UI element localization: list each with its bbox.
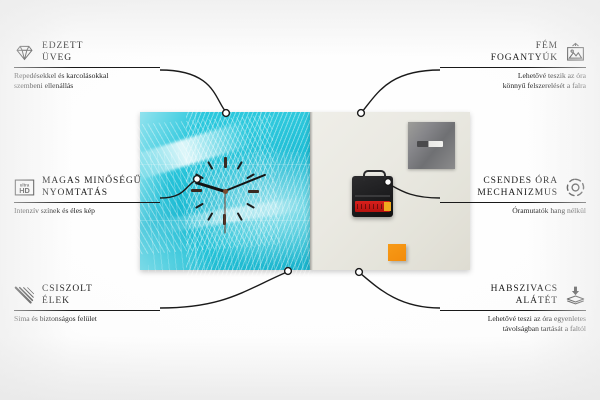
connector-hanger <box>362 70 440 112</box>
feature-title: CSISZOLT ÉLEK <box>42 284 93 307</box>
feature-header: CSENDES ÓRA MECHANIZMUS <box>440 176 586 199</box>
ultra-hd-icon: ultra HD <box>14 177 35 198</box>
bevelled-edges-icon <box>14 285 35 306</box>
feature-high-quality-print: ultra HD MAGAS MINŐSÉGŰ NYOMTATÁS Intenz… <box>14 176 160 216</box>
feature-rule <box>14 202 160 203</box>
hanger-plate <box>408 122 455 169</box>
feature-silent-mechanism: CSENDES ÓRA MECHANIZMUS Óramutatók hang … <box>440 176 586 216</box>
feature-rule <box>440 67 586 68</box>
feature-tempered-glass: EDZETT ÜVEG Repedésekkel és karcolásokka… <box>14 41 160 90</box>
feature-header: FÉM FOGANTYÚK <box>440 41 586 64</box>
battery-terminal <box>384 202 391 211</box>
feature-description: Lehetővé teszik az óra könnyű felszerelé… <box>440 71 586 90</box>
feature-title: MAGAS MINŐSÉGŰ NYOMTATÁS <box>42 176 141 199</box>
feature-rule <box>14 310 160 311</box>
hanger-slot <box>417 141 443 147</box>
diamond-icon <box>14 42 35 63</box>
feature-rule <box>440 202 586 203</box>
feature-description: Repedésekkel és karcolásokkal szembeni e… <box>14 71 160 90</box>
battery-label <box>357 204 383 209</box>
feature-header: EDZETT ÜVEG <box>14 41 160 64</box>
feature-header: HABSZIVACS ALÁTÉT <box>440 284 586 307</box>
second-hand <box>225 191 226 233</box>
feature-description: Intenzív színek és éles kép <box>14 206 160 216</box>
gear-icon <box>565 177 586 198</box>
connector-tempered-glass <box>160 70 226 112</box>
foam-pad <box>388 244 406 261</box>
picture-frame-icon <box>565 42 586 63</box>
feature-polished-edges: CSISZOLT ÉLEK Sima és biztonságos felüle… <box>14 284 160 324</box>
movement-bail <box>363 170 386 181</box>
feature-header: ultra HD MAGAS MINŐSÉGŰ NYOMTATÁS <box>14 176 160 199</box>
clock-center-pin <box>223 189 228 194</box>
connector-foam <box>360 273 440 308</box>
infographic-canvas: EDZETT ÜVEG Repedésekkel és karcolásokka… <box>0 0 600 400</box>
feature-title: CSENDES ÓRA MECHANIZMUS <box>477 176 558 199</box>
feature-description: Sima és biztonságos felület <box>14 314 160 324</box>
feature-title: EDZETT ÜVEG <box>42 41 83 64</box>
front-glass-panel <box>140 112 310 270</box>
feature-metal-hanger: FÉM FOGANTYÚK Lehetővé teszik az óra kön… <box>440 41 586 90</box>
clock-movement <box>352 176 393 217</box>
feature-header: CSISZOLT ÉLEK <box>14 284 160 307</box>
feature-title: FÉM FOGANTYÚK <box>491 41 558 64</box>
feature-title: HABSZIVACS ALÁTÉT <box>491 284 558 307</box>
feature-rule <box>14 67 160 68</box>
movement-seam <box>355 195 390 197</box>
battery <box>355 201 390 212</box>
feature-description: Lehetővé teszi az óra egyenletes távolsá… <box>440 314 586 333</box>
product-image <box>140 112 470 270</box>
feature-foam-spacer: HABSZIVACS ALÁTÉT Lehetővé teszi az óra … <box>440 284 586 333</box>
feature-description: Óramutatók hang nélkül <box>440 206 586 216</box>
connector-edges <box>160 272 287 308</box>
feature-rule <box>440 310 586 311</box>
foam-layers-icon <box>565 285 586 306</box>
svg-text:HD: HD <box>19 186 30 195</box>
clock-face <box>140 112 310 270</box>
